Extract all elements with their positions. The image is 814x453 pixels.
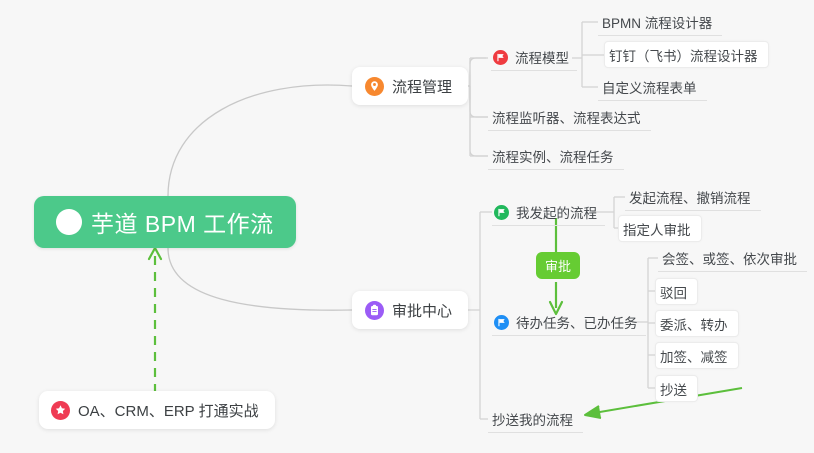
leaf-node-dingtalk-designer[interactable]: 钉钉（飞书）流程设计器 xyxy=(604,41,769,68)
leaf-label: 会签、或签、依次审批 xyxy=(662,248,797,268)
leaf-label: 流程实例、流程任务 xyxy=(492,146,614,166)
leaf-label: 委派、转办 xyxy=(660,314,728,334)
leaf-node-countersign[interactable]: 会签、或签、依次审批 xyxy=(658,245,807,272)
approval-chip-label: 审批 xyxy=(545,256,571,275)
leaf-node-process-instance[interactable]: 流程实例、流程任务 xyxy=(488,143,624,170)
root-label: 芋道 BPM 工作流 xyxy=(91,205,274,239)
sub-node-label-todo-done-tasks: 待办任务、已办任务 xyxy=(516,312,638,332)
leaf-label: 抄送我的流程 xyxy=(492,409,573,429)
branch-label-approval-center: 审批中心 xyxy=(392,300,452,321)
branch-label-process-management: 流程管理 xyxy=(392,76,452,97)
star-icon xyxy=(51,401,70,420)
sub-node-todo-done-tasks[interactable]: 待办任务、已办任务 xyxy=(492,309,646,336)
leaf-label: 流程监听器、流程表达式 xyxy=(492,107,641,127)
sub-node-label-my-initiated: 我发起的流程 xyxy=(516,202,597,222)
clipboard-icon xyxy=(365,301,384,320)
location-pin-icon xyxy=(365,77,384,96)
leaf-node-custom-form[interactable]: 自定义流程表单 xyxy=(598,74,707,101)
leaf-node-add-remove-sign[interactable]: 加签、减签 xyxy=(655,342,739,369)
leaf-label: BPMN 流程设计器 xyxy=(602,12,712,32)
sub-node-my-initiated[interactable]: 我发起的流程 xyxy=(492,199,605,226)
mindmap-canvas[interactable]: 芋道 BPM 工作流 流程管理 流程模型 BPMN 流程设计器 钉钉（飞书）流程… xyxy=(0,0,814,453)
leaf-label: 指定人审批 xyxy=(623,219,691,239)
leaf-label: 钉钉（飞书）流程设计器 xyxy=(609,45,758,65)
flag-icon xyxy=(493,50,508,65)
leaf-node-cc-to-me[interactable]: 抄送我的流程 xyxy=(488,406,583,433)
leaf-node-process-listener[interactable]: 流程监听器、流程表达式 xyxy=(488,104,651,131)
leaf-node-start-cancel-process[interactable]: 发起流程、撤销流程 xyxy=(625,184,761,211)
approval-chip[interactable]: 审批 xyxy=(536,252,580,279)
thumbs-up-icon xyxy=(56,209,82,235)
branch-node-process-management[interactable]: 流程管理 xyxy=(352,67,468,105)
leaf-label: 发起流程、撤销流程 xyxy=(629,187,751,207)
leaf-label: 抄送 xyxy=(660,379,687,399)
leaf-node-bpmn-designer[interactable]: BPMN 流程设计器 xyxy=(598,9,722,36)
dashed-green-arrow xyxy=(149,248,161,393)
sub-node-process-model[interactable]: 流程模型 xyxy=(491,44,577,71)
leaf-label: 自定义流程表单 xyxy=(602,77,697,97)
leaf-node-delegate-transfer[interactable]: 委派、转办 xyxy=(655,310,739,337)
leaf-label: 驳回 xyxy=(660,282,687,302)
branch-node-approval-center[interactable]: 审批中心 xyxy=(352,291,468,329)
callout-node-integration[interactable]: OA、CRM、ERP 打通实战 xyxy=(39,391,275,429)
leaf-node-carbon-copy[interactable]: 抄送 xyxy=(655,375,698,402)
flag-icon xyxy=(494,315,509,330)
sub-node-label-process-model: 流程模型 xyxy=(515,47,569,67)
root-node[interactable]: 芋道 BPM 工作流 xyxy=(34,196,296,248)
leaf-node-assignee-approval[interactable]: 指定人审批 xyxy=(618,215,702,242)
flag-icon xyxy=(494,205,509,220)
leaf-node-reject[interactable]: 驳回 xyxy=(655,278,698,305)
leaf-label: 加签、减签 xyxy=(660,346,728,366)
callout-label: OA、CRM、ERP 打通实战 xyxy=(78,400,259,421)
